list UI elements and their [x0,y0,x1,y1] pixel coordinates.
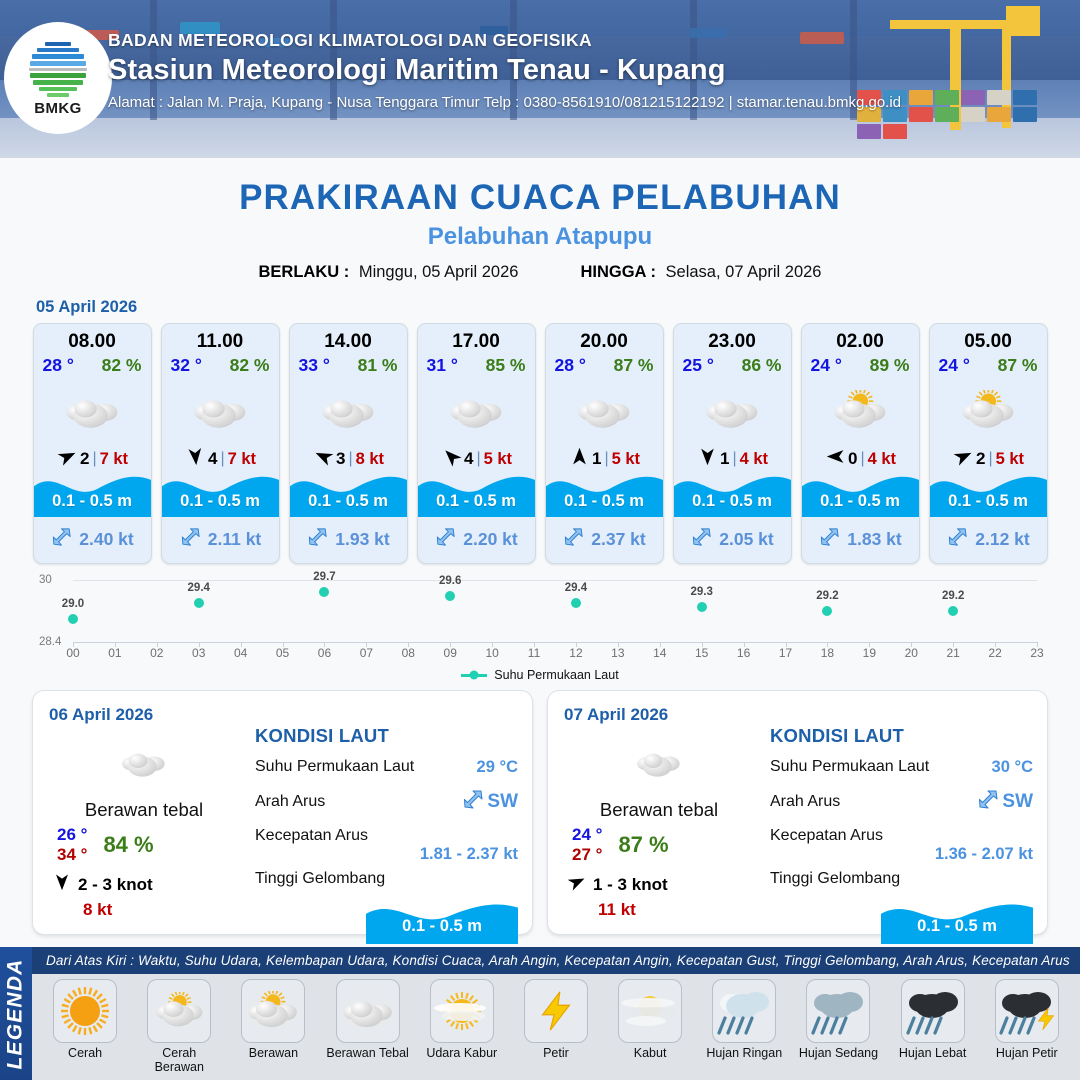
sst-chart: 3028.429.029.429.729.629.429.329.229.2 0… [35,576,1045,684]
card-humidity: 87 % [614,355,654,376]
legend-item: Hujan Petir [985,979,1069,1060]
chart-y-tick-label: 30 [39,574,52,586]
day-temp-max: 27 ° [572,845,602,865]
card-temperature: 31 ° [427,355,458,376]
chart-x-tick-label: 21 [946,646,959,660]
page-subtitle: Pelabuhan Atapupu [0,223,1080,251]
valid-to: HINGGA : Selasa, 07 April 2026 [580,263,821,282]
chart-x-tick-label: 14 [653,646,666,660]
card-current-speed: 1.93 kt [335,529,389,550]
card-wave-height: 0.1 - 0.5 m [546,492,663,511]
legend-side-title: LEGENDA [4,958,28,1069]
validity-row: BERLAKU : Minggu, 05 April 2026 HINGGA :… [0,263,1080,282]
chart-x-axis [73,642,1037,643]
legend-item-label: Kabut [634,1046,667,1060]
day-condition: Berawan tebal [49,799,239,821]
bmkg-logo: BMKG [4,22,112,134]
berawan-tebal-icon [564,733,754,793]
card-time: 20.00 [546,331,663,353]
chart-x-tick-label: 05 [276,646,289,660]
chart-data-point [68,614,78,624]
chart-plot-area: 3028.429.029.429.729.629.429.329.229.2 [73,580,1037,642]
card-time: 05.00 [930,331,1047,353]
chart-x-tick-label: 06 [318,646,331,660]
legend-item-label: Hujan Ringan [706,1046,782,1060]
day-sea-conditions: KONDISI LAUT Suhu Permukaan Laut 29 °C A… [255,725,518,944]
card-current-speed: 2.20 kt [463,529,517,550]
legend-series-label: Suhu Permukaan Laut [494,668,618,682]
chart-x-tick-label: 03 [192,646,205,660]
current-arrow-icon [562,525,585,553]
card-wave-height: 0.1 - 0.5 m [418,492,535,511]
current-direction-value: SW [1002,791,1033,813]
card-humidity: 81 % [358,355,398,376]
day-date: 07 April 2026 [564,705,1031,725]
day-temperatures: 24 ° 27 ° 87 % [564,825,754,865]
day-gust: 11 kt [598,900,754,920]
day-wave-value: 0.1 - 0.5 m [366,917,518,936]
wave-height-label: Tinggi Gelombang [255,870,385,888]
current-arrow-icon [434,525,457,553]
card-temperature: 33 ° [299,355,330,376]
berawan-tebal-icon [290,380,407,442]
hourly-card: 05.00 24 ° 87 % 2 | 5 kt [929,323,1048,564]
page-title: PRAKIRAAN CUACA PELABUHAN [0,178,1080,218]
day-wind: 2 - 3 knot [49,873,239,896]
berawan-tebal-icon [49,733,239,793]
day-wave-value: 0.1 - 0.5 m [881,917,1033,936]
hujan-sedang-icon [806,979,870,1043]
current-arrow-icon [461,787,485,817]
day-temp-max: 34 ° [57,845,87,865]
legend-item: Berawan [231,979,315,1060]
legend-marker-icon [461,674,487,677]
chart-data-point [697,602,707,612]
chart-x-tick-label: 12 [569,646,582,660]
valid-from-value: Minggu, 05 April 2026 [359,263,519,281]
chart-data-point [445,591,455,601]
legend-item-label: Cerah Berawan [137,1046,221,1074]
wave-height-label: Tinggi Gelombang [770,870,900,888]
berawan-tebal-icon [162,380,279,442]
hourly-card: 14.00 33 ° 81 % 3 | 8 kt [289,323,408,564]
current-speed-value: 1.81 - 2.37 kt [255,845,518,864]
hourly-forecast-cards: 08.00 28 ° 82 % 2 | 7 kt [0,323,1080,564]
hourly-card: 11.00 32 ° 82 % 4 | 7 kt [161,323,280,564]
current-speed-value: 1.36 - 2.07 kt [770,845,1033,864]
hourly-card: 17.00 31 ° 85 % 4 | 5 kt [417,323,536,564]
berawan-tebal-icon [336,979,400,1043]
valid-from: BERLAKU : Minggu, 05 April 2026 [259,263,519,282]
card-time: 11.00 [162,331,279,353]
legend-section: LEGENDA Dari Atas Kiri : Waktu, Suhu Uda… [0,947,1080,1080]
chart-x-tick-label: 20 [905,646,918,660]
chart-x-tick-label: 17 [779,646,792,660]
current-direction-value-group: SW [976,787,1033,817]
day-condition: Berawan tebal [564,799,754,821]
chart-point-label: 29.0 [62,598,84,610]
card-temperature: 24 ° [939,355,970,376]
bmkg-globe-icon [27,40,89,98]
current-direction-value-group: SW [461,787,518,817]
sst-value: 29 °C [477,758,518,777]
station-address: Alamat : Jalan M. Praja, Kupang - Nusa T… [108,94,1068,111]
current-arrow-icon [976,787,1000,817]
legend-item-label: Hujan Sedang [799,1046,878,1060]
cerah-icon [53,979,117,1043]
chart-x-tick-label: 11 [528,646,540,660]
berawan-tebal-icon [418,380,535,442]
card-wave-height: 0.1 - 0.5 m [34,492,151,511]
legend-item: Berawan Tebal [326,979,410,1060]
wind-direction-arrow-icon [568,873,586,896]
card-temperature: 25 ° [683,355,714,376]
legend-item-label: Hujan Lebat [899,1046,966,1060]
card-wave-height: 0.1 - 0.5 m [930,492,1047,511]
chart-data-point [948,606,958,616]
current-speed-label: Kecepatan Arus [255,827,368,845]
chart-point-label: 29.2 [816,590,838,602]
current-direction-label: Arah Arus [255,793,325,811]
valid-to-label: HINGGA : [580,263,655,281]
legend-item: Udara Kabur [420,979,504,1060]
card-temperature: 32 ° [171,355,202,376]
cerah-berawan-icon [802,380,919,442]
hourly-card: 02.00 24 ° 89 % 0 | 4 kt [801,323,920,564]
card-current: 2.12 kt [930,525,1047,553]
card-current: 2.40 kt [34,525,151,553]
valid-from-label: BERLAKU : [259,263,350,281]
hujan-petir-icon [995,979,1059,1043]
chart-data-point [571,598,581,608]
chart-data-point [194,598,204,608]
legend-item: Hujan Ringan [702,979,786,1060]
chart-x-tick-label: 18 [821,646,834,660]
hourly-card: 20.00 28 ° 87 % 1 | 5 kt [545,323,664,564]
chart-x-tick-label: 15 [695,646,708,660]
hourly-card: 08.00 28 ° 82 % 2 | 7 kt [33,323,152,564]
petir-icon [524,979,588,1043]
legend-body: Dari Atas Kiri : Waktu, Suhu Udara, Kele… [32,947,1080,1080]
hujan-lebat-icon [901,979,965,1043]
chart-x-tick-label: 10 [485,646,498,660]
chart-x-tick-label: 02 [150,646,163,660]
hourly-card: 23.00 25 ° 86 % 1 | 4 kt [673,323,792,564]
chart-point-label: 29.7 [313,571,335,583]
chart-x-tick-label: 19 [863,646,876,660]
day-wind-range: 2 - 3 knot [78,875,153,895]
day-wind: 1 - 3 knot [564,873,754,896]
chart-x-tick-label: 23 [1030,646,1043,660]
card-humidity: 86 % [742,355,782,376]
legend-side-banner: LEGENDA [0,947,32,1080]
station-name: Stasiun Meteorologi Maritim Tenau - Kupa… [108,54,1068,87]
card-current: 2.05 kt [674,525,791,553]
kabut-icon [618,979,682,1043]
card-current-speed: 2.37 kt [591,529,645,550]
daily-forecast-panel: 06 April 2026 Berawan tebal 26 ° 34 ° 84… [32,690,533,935]
legend-items: Cerah Cerah Berawan [32,974,1080,1080]
day-wind-range: 1 - 3 knot [593,875,668,895]
legend-item-label: Berawan Tebal [326,1046,408,1060]
chart-point-label: 29.6 [439,575,461,587]
sst-label: Suhu Permukaan Laut [770,758,929,776]
card-humidity: 87 % [998,355,1038,376]
day-temp-min: 26 ° [57,825,87,845]
card-current: 2.20 kt [418,525,535,553]
chart-point-label: 29.3 [690,586,712,598]
udara-kabur-icon [430,979,494,1043]
current-arrow-icon [946,525,969,553]
card-wave-height: 0.1 - 0.5 m [802,492,919,511]
chart-point-label: 29.4 [565,582,587,594]
berawan-tebal-icon [34,380,151,442]
legend-item-label: Petir [543,1046,569,1060]
chart-x-tick-label: 04 [234,646,247,660]
sst-label: Suhu Permukaan Laut [255,758,414,776]
current-arrow-icon [306,525,329,553]
card-humidity: 82 % [102,355,142,376]
legend-item: Cerah [43,979,127,1060]
day-temperatures: 26 ° 34 ° 84 % [49,825,239,865]
sea-conditions-title: KONDISI LAUT [255,725,518,747]
berawan-tebal-icon [546,380,663,442]
legend-item: Petir [514,979,598,1060]
current-arrow-icon [50,525,73,553]
current-arrow-icon [690,525,713,553]
berawan-icon [241,979,305,1043]
card-humidity: 85 % [486,355,526,376]
card-current-speed: 1.83 kt [847,529,901,550]
card-current: 1.93 kt [290,525,407,553]
chart-x-tick-label: 22 [988,646,1001,660]
chart-data-point [822,606,832,616]
card-time: 08.00 [34,331,151,353]
sst-value: 30 °C [992,758,1033,777]
card-current: 2.37 kt [546,525,663,553]
card-time: 17.00 [418,331,535,353]
chart-x-tick-label: 13 [611,646,624,660]
card-time: 02.00 [802,331,919,353]
chart-point-label: 29.4 [188,582,210,594]
card-current-speed: 2.40 kt [79,529,133,550]
chart-point-label: 29.2 [942,590,964,602]
current-direction-value: SW [487,791,518,813]
chart-legend: Suhu Permukaan Laut [35,668,1045,682]
valid-to-value: Selasa, 07 April 2026 [666,263,822,281]
cerah-berawan-icon [930,380,1047,442]
page-header: BMKG BADAN METEOROLOGI KLIMATOLOGI DAN G… [0,0,1080,158]
legend-item: Cerah Berawan [137,979,221,1074]
daily-forecast-panel: 07 April 2026 Berawan tebal 24 ° 27 ° 87… [547,690,1048,935]
chart-x-tick-label: 00 [66,646,79,660]
card-current-speed: 2.12 kt [975,529,1029,550]
hujan-ringan-icon [712,979,776,1043]
daily-forecast-panels: 06 April 2026 Berawan tebal 26 ° 34 ° 84… [0,690,1080,935]
card-wave-height: 0.1 - 0.5 m [290,492,407,511]
day-wave-graphic: 0.1 - 0.5 m [881,892,1033,944]
legend-item-label: Berawan [249,1046,298,1060]
day-temp-min: 24 ° [572,825,602,845]
current-arrow-icon [818,525,841,553]
card-current-speed: 2.05 kt [719,529,773,550]
card-current: 2.11 kt [162,525,279,553]
card-wave-height: 0.1 - 0.5 m [162,492,279,511]
header-text-block: BADAN METEOROLOGI KLIMATOLOGI DAN GEOFIS… [108,30,1068,111]
chart-x-tick-label: 09 [444,646,457,660]
day-humidity: 87 % [618,832,668,858]
card-humidity: 89 % [870,355,910,376]
chart-x-tick-label: 07 [360,646,373,660]
chart-data-point [319,587,329,597]
legend-note: Dari Atas Kiri : Waktu, Suhu Udara, Kele… [32,947,1080,974]
card-time: 14.00 [290,331,407,353]
hourly-date-label: 05 April 2026 [36,298,1080,317]
card-temperature: 28 ° [555,355,586,376]
berawan-tebal-icon [674,380,791,442]
cerah-berawan-icon [147,979,211,1043]
card-current-speed: 2.11 kt [208,529,262,550]
wind-direction-arrow-icon [53,873,71,896]
day-gust: 8 kt [83,900,239,920]
day-left-column: Berawan tebal 24 ° 27 ° 87 % 1 - 3 knot … [564,733,754,920]
bmkg-logo-text: BMKG [34,100,81,117]
day-date: 06 April 2026 [49,705,516,725]
chart-x-tick-label: 16 [737,646,750,660]
day-left-column: Berawan tebal 26 ° 34 ° 84 % 2 - 3 knot … [49,733,239,920]
chart-x-tick-label: 08 [402,646,415,660]
organization-name: BADAN METEOROLOGI KLIMATOLOGI DAN GEOFIS… [108,30,1068,51]
day-wave-graphic: 0.1 - 0.5 m [366,892,518,944]
chart-x-tick-label: 01 [108,646,121,660]
chart-y-tick-label: 28.4 [39,636,61,648]
legend-item: Kabut [608,979,692,1060]
day-sea-conditions: KONDISI LAUT Suhu Permukaan Laut 30 °C A… [770,725,1033,944]
legend-item: Hujan Lebat [891,979,975,1060]
current-direction-label: Arah Arus [770,793,840,811]
legend-item-label: Hujan Petir [996,1046,1058,1060]
legend-item-label: Cerah [68,1046,102,1060]
card-temperature: 24 ° [811,355,842,376]
card-current: 1.83 kt [802,525,919,553]
day-humidity: 84 % [103,832,153,858]
card-wave-height: 0.1 - 0.5 m [674,492,791,511]
current-arrow-icon [179,525,202,553]
sea-conditions-title: KONDISI LAUT [770,725,1033,747]
card-humidity: 82 % [230,355,270,376]
current-speed-label: Kecepatan Arus [770,827,883,845]
card-temperature: 28 ° [43,355,74,376]
chart-gridline [73,580,1037,581]
legend-item-label: Udara Kabur [426,1046,497,1060]
legend-item: Hujan Sedang [796,979,880,1060]
card-time: 23.00 [674,331,791,353]
